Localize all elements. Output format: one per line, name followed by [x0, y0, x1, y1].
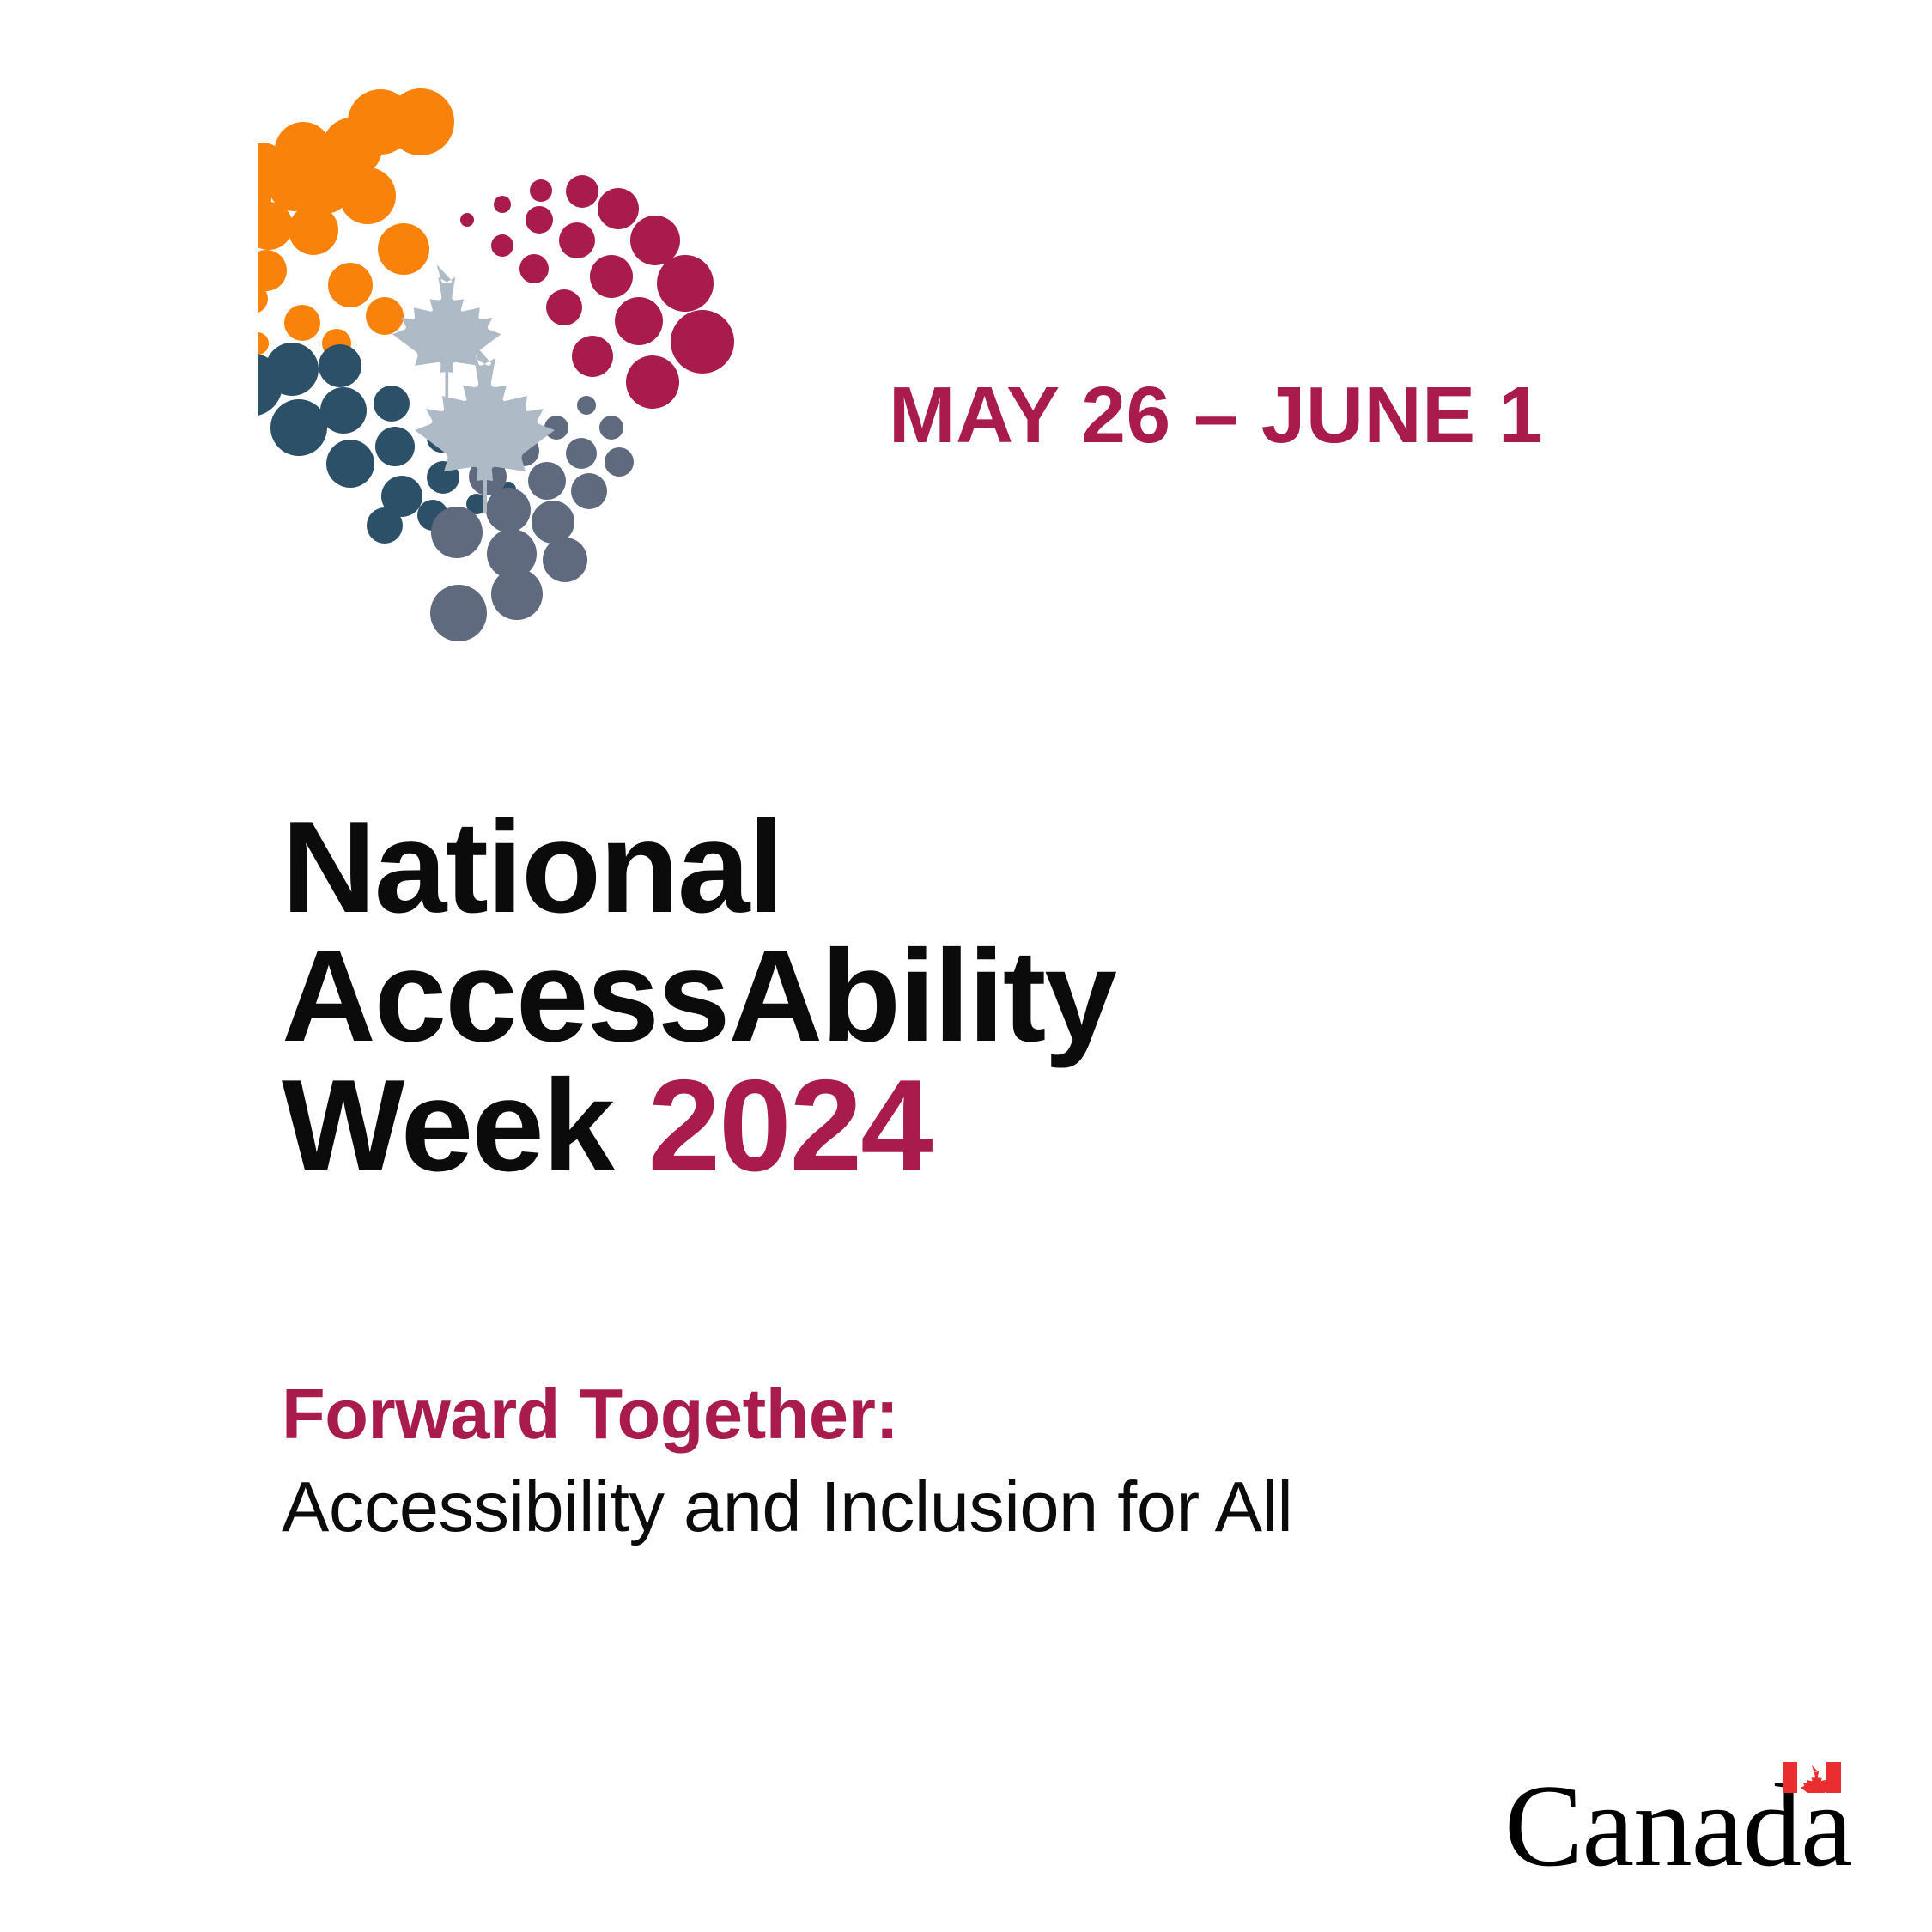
theme-heading: Forward Together: — [282, 1372, 1741, 1456]
title-line-3: Week 2024 — [282, 1061, 1656, 1190]
naaw-logo-svg — [258, 86, 738, 687]
title-line-2: AccessAbility — [282, 932, 1656, 1060]
event-date-range: MAY 26 – JUNE 1 — [889, 375, 1543, 455]
campaign-theme: Forward Together: Accessibility and Incl… — [282, 1372, 1741, 1550]
page-title: National AccessAbility Week 2024 — [282, 803, 1656, 1190]
title-week-word: Week — [282, 1053, 613, 1199]
title-line-1: National — [282, 803, 1656, 932]
canada-flag-icon — [1783, 1762, 1841, 1793]
theme-tagline: Accessibility and Inclusion for All — [282, 1463, 1741, 1550]
canada-wordmark: Canada — [1504, 1752, 1848, 1880]
logo-crimson-dots — [460, 175, 734, 409]
poster-canvas: MAY 26 – JUNE 1 National AccessAbility W… — [0, 0, 1932, 1932]
naaw-logo — [258, 86, 738, 687]
title-year: 2024 — [648, 1053, 932, 1199]
